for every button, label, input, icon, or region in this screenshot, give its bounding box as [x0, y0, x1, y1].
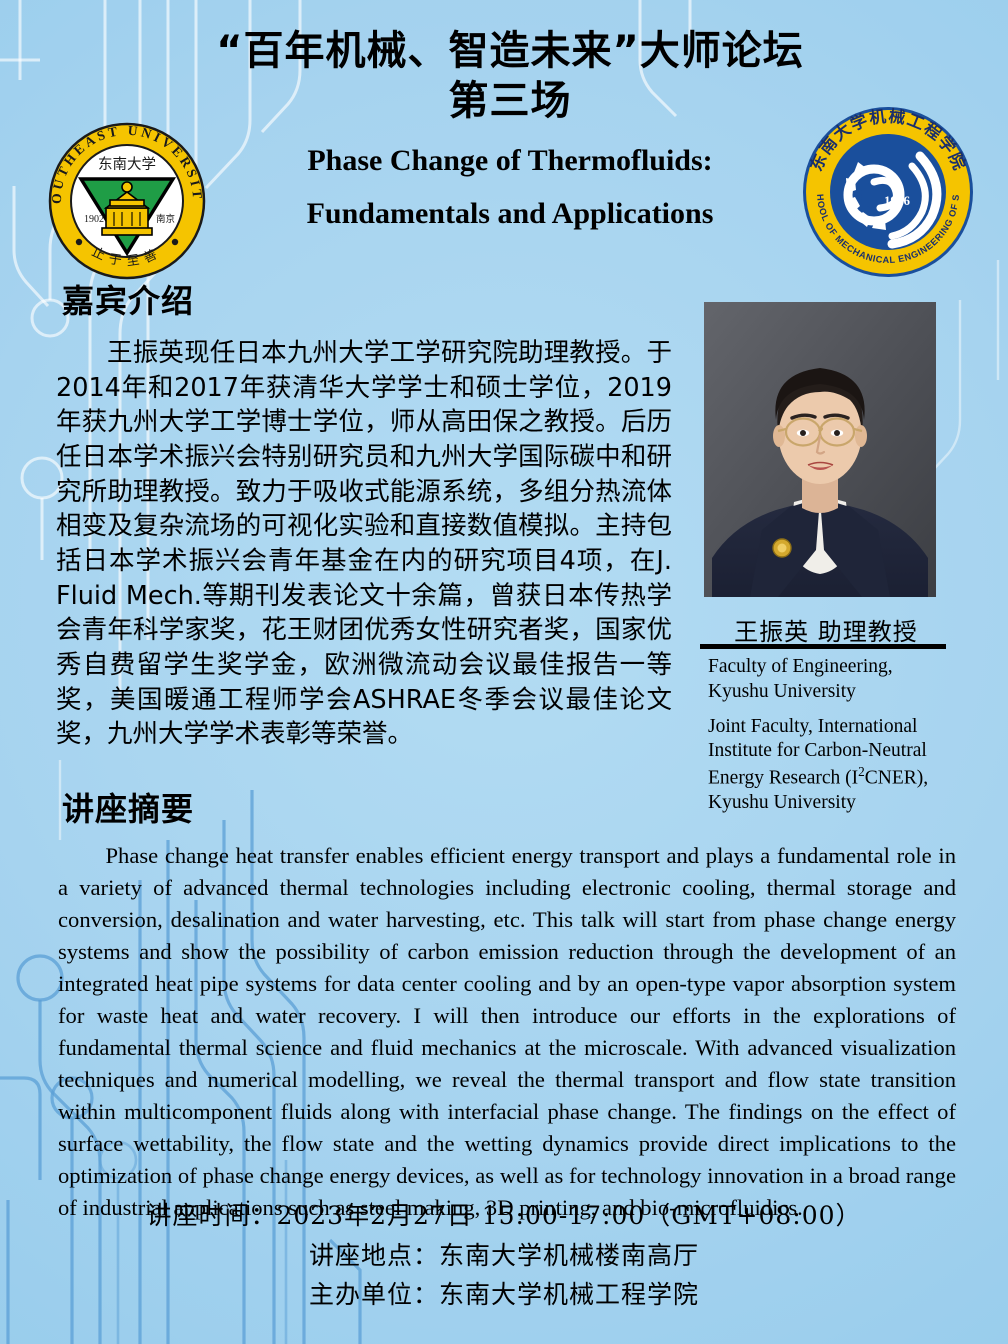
guest-introduction-heading: 嘉宾介绍 [62, 276, 194, 322]
affiliation-secondary: Joint Faculty, International Institute f… [708, 715, 958, 817]
title-block: “百年机械、智造未来”大师论坛 第三场 Phase Change of Ther… [170, 26, 850, 234]
event-details-footer: 讲座时间：2023年2月27日 15:00-17:00（GMT+08:00） 讲… [0, 1196, 1008, 1315]
speaker-name: 王振英 助理教授 [706, 612, 946, 647]
seal-year: 1902 [84, 214, 104, 225]
speaker-affiliations: Faculty of Engineering, Kyushu Universit… [708, 655, 958, 826]
poster-root: SOUTHEAST UNIVERSITY 止于至善 东南大学 [0, 0, 1008, 1344]
event-organizer: 主办单位：东南大学机械工程学院 [0, 1275, 1008, 1315]
poster-title-en-line2: Fundamentals and Applications [170, 194, 850, 234]
affiliation-primary: Faculty of Engineering, Kyushu Universit… [708, 655, 958, 705]
sme-year: 1916 [884, 193, 911, 208]
poster-title-cn-line1: “百年机械、智造未来”大师论坛 [170, 26, 850, 76]
event-venue: 讲座地点：东南大学机械楼南高厅 [0, 1236, 1008, 1276]
seal-center-cn: 东南大学 [98, 156, 156, 173]
abstract-heading: 讲座摘要 [62, 784, 194, 830]
abstract-text: Phase change heat transfer enables effic… [58, 840, 956, 1224]
speaker-name-underline [700, 644, 946, 649]
poster-title-cn-line2: 第三场 [170, 76, 850, 126]
poster-title-en-line1: Phase Change of Thermofluids: [170, 141, 850, 181]
affiliation-superscript: 2 [858, 764, 865, 779]
speaker-portrait-photo [704, 302, 936, 597]
event-time: 讲座时间：2023年2月27日 15:00-17:00（GMT+08:00） [0, 1196, 1008, 1236]
poster-header: SOUTHEAST UNIVERSITY 止于至善 东南大学 [0, 0, 1008, 272]
speaker-biography-text: 王振英现任日本九州大学工学研究院助理教授。于2014年和2017年获清华大学学士… [56, 336, 672, 752]
school-of-mechanical-engineering-logo: 东南大学机械工程学院 SCHOOL OF MECHANICAL ENGINEER… [800, 104, 976, 280]
